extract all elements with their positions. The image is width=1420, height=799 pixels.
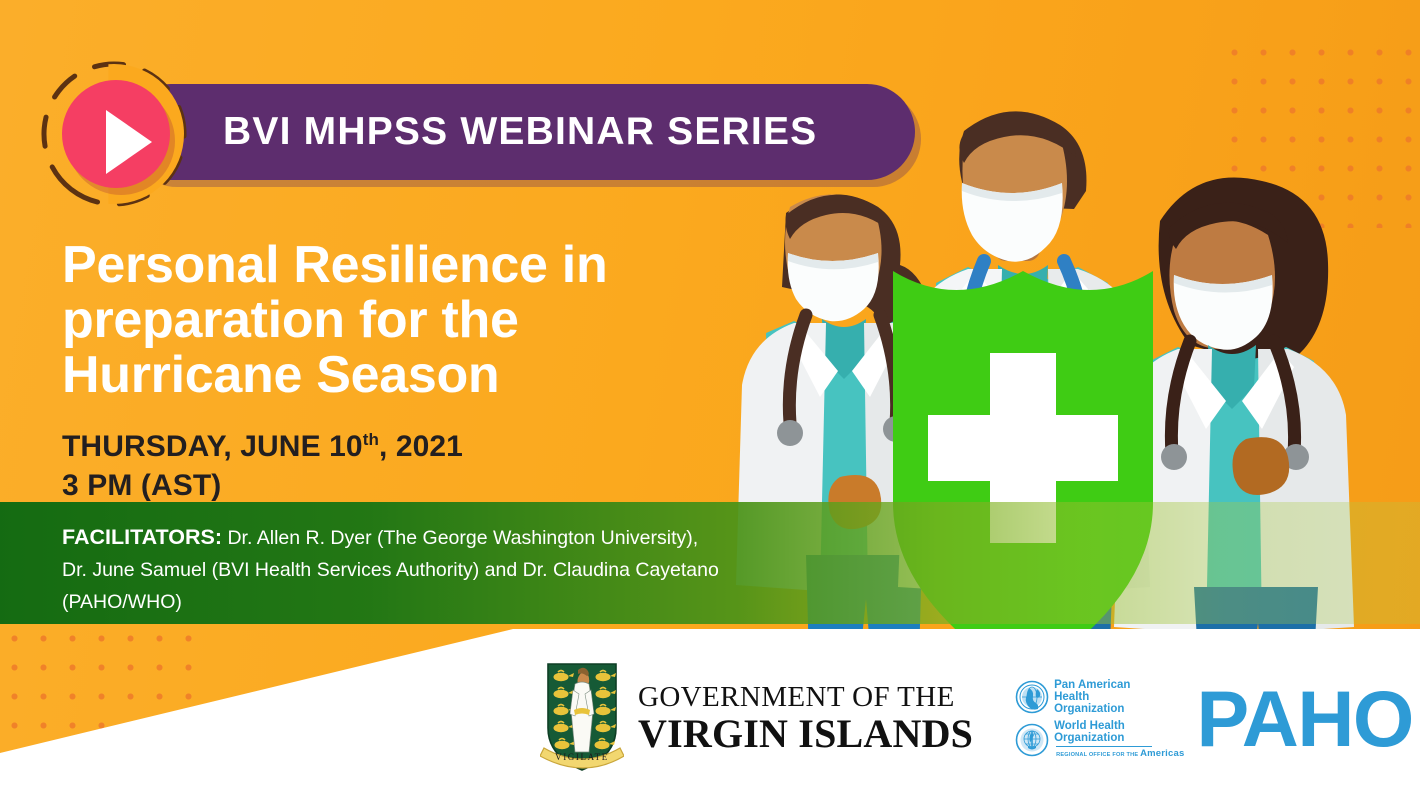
series-banner: BVI MHPSS WEBINAR SERIES — [123, 84, 915, 180]
facilitators-label: FACILITATORS: — [62, 525, 222, 549]
paho-globe-icon — [1015, 680, 1049, 714]
play-icon — [106, 110, 152, 174]
event-date-main: THURSDAY, JUNE 10 — [62, 430, 363, 463]
page-title: Personal Resilience in preparation for t… — [62, 238, 702, 403]
paho-emblem-line-3: Organization — [1054, 703, 1130, 715]
who-emblem-line-1: World Health — [1054, 720, 1184, 732]
event-time: 3 PM (AST) — [62, 466, 702, 505]
event-date-year: , 2021 — [379, 430, 463, 463]
paho-logo: Pan American Health Organization — [1015, 679, 1413, 760]
paho-emblems: Pan American Health Organization — [1015, 679, 1184, 760]
government-line-1: GOVERNMENT OF THE — [638, 684, 973, 712]
paho-emblem-line-2: Health — [1054, 691, 1130, 703]
play-circle[interactable] — [62, 80, 170, 188]
paho-wordmark: PAHO — [1196, 687, 1412, 752]
title-line-2: preparation for the — [62, 291, 519, 349]
paho-divider — [1056, 746, 1152, 747]
crest-motto: VIGILATE — [555, 752, 609, 762]
title-line-3: Hurricane Season — [62, 346, 499, 404]
event-date-ordinal: th — [363, 430, 379, 449]
government-logo: VIGILATE GOVERNMENT OF THE VIRGIN ISLAND… — [540, 660, 973, 778]
paho-emblem-text: Pan American Health Organization — [1054, 679, 1130, 716]
who-emblem-icon — [1015, 723, 1049, 757]
government-logo-text: GOVERNMENT OF THE VIRGIN ISLANDS — [638, 684, 973, 753]
facilitators-text-block: FACILITATORS: Dr. Allen R. Dyer (The Geo… — [62, 520, 722, 619]
who-emblem-text: World Health Organization REGIONAL OFFIC… — [1054, 720, 1184, 759]
world-health-organization-emblem: World Health Organization REGIONAL OFFIC… — [1015, 720, 1184, 759]
title-line-1: Personal Resilience in — [62, 236, 607, 294]
paho-tagline-americas: Americas — [1140, 748, 1184, 759]
play-badge[interactable] — [54, 72, 178, 196]
government-line-2: VIRGIN ISLANDS — [638, 715, 973, 753]
webinar-poster: BVI MHPSS WEBINAR SERIES Personal Resili… — [0, 0, 1420, 799]
series-banner-label: BVI MHPSS WEBINAR SERIES — [223, 110, 817, 154]
logo-row: VIGILATE GOVERNMENT OF THE VIRGIN ISLAND… — [540, 660, 1413, 778]
title-block: Personal Resilience in preparation for t… — [62, 238, 702, 505]
paho-regional-tagline: REGIONAL OFFICE FOR THE Americas — [1054, 749, 1184, 759]
paho-tagline-small: REGIONAL OFFICE FOR THE — [1056, 752, 1138, 758]
bvi-coat-of-arms-icon: VIGILATE — [540, 660, 624, 778]
who-emblem-line-2: Organization — [1054, 732, 1184, 744]
paho-emblem-line-1: Pan American — [1054, 679, 1130, 691]
event-date: THURSDAY, JUNE 10th, 2021 — [62, 427, 702, 466]
pan-american-health-organization-emblem: Pan American Health Organization — [1015, 679, 1184, 716]
date-time-block: THURSDAY, JUNE 10th, 2021 3 PM (AST) — [62, 427, 702, 505]
